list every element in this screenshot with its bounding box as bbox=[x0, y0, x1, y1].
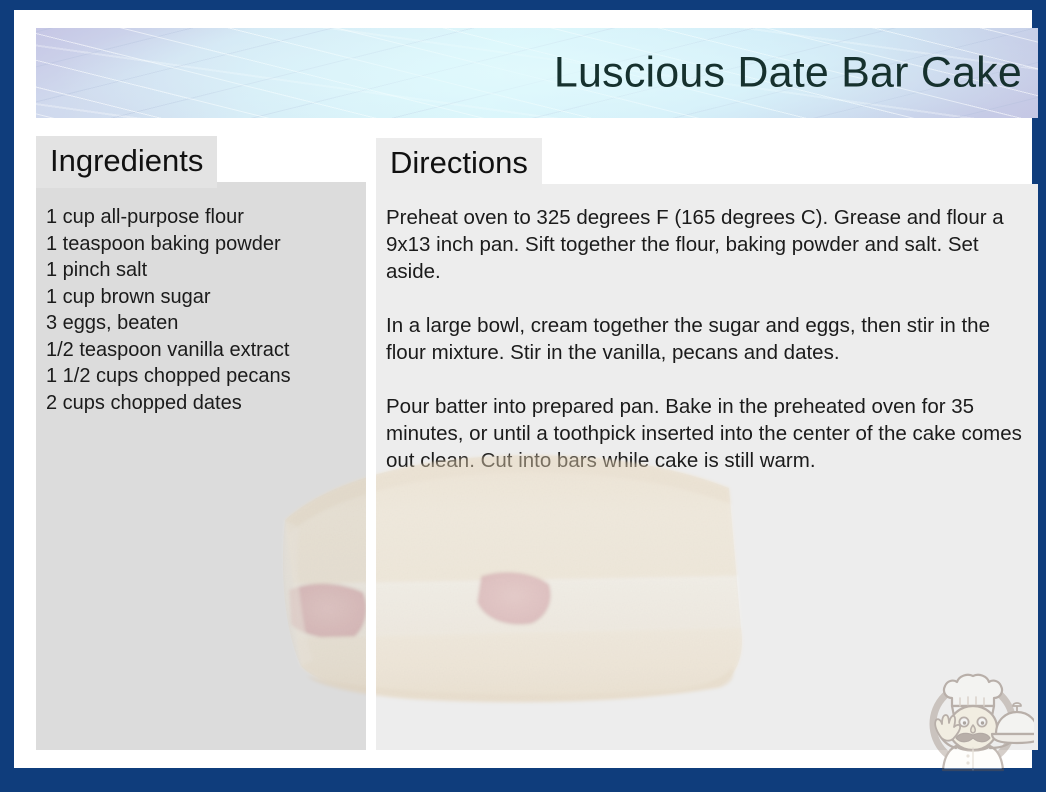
list-item: 1 1/2 cups chopped pecans bbox=[46, 363, 358, 390]
directions-text: Preheat oven to 325 degrees F (165 degre… bbox=[386, 204, 1024, 474]
list-item: 2 cups chopped dates bbox=[46, 390, 358, 417]
list-item: 1 cup all-purpose flour bbox=[46, 204, 358, 231]
recipe-card: Luscious Date Bar Cake 1 cup all-purpose… bbox=[0, 0, 1046, 792]
list-item: 3 eggs, beaten bbox=[46, 310, 358, 337]
list-item: 1 cup brown sugar bbox=[46, 284, 358, 311]
direction-step: Preheat oven to 325 degrees F (165 degre… bbox=[386, 204, 1024, 285]
ingredients-panel: 1 cup all-purpose flour 1 teaspoon bakin… bbox=[36, 182, 366, 750]
panel-gutter bbox=[366, 182, 376, 750]
list-item: 1 teaspoon baking powder bbox=[46, 231, 358, 258]
directions-heading: Directions bbox=[376, 138, 542, 190]
list-item: 1/2 teaspoon vanilla extract bbox=[46, 337, 358, 364]
ingredients-list: 1 cup all-purpose flour 1 teaspoon bakin… bbox=[46, 204, 358, 416]
chef-mascot-logo-icon bbox=[912, 658, 1034, 780]
direction-step: In a large bowl, cream together the suga… bbox=[386, 312, 1024, 366]
header-banner: Luscious Date Bar Cake bbox=[36, 28, 1038, 118]
page-inner: Luscious Date Bar Cake 1 cup all-purpose… bbox=[14, 10, 1032, 768]
list-item: 1 pinch salt bbox=[46, 257, 358, 284]
ingredients-heading: Ingredients bbox=[36, 136, 217, 188]
direction-step: Pour batter into prepared pan. Bake in t… bbox=[386, 393, 1024, 474]
page-title: Luscious Date Bar Cake bbox=[554, 49, 1022, 98]
